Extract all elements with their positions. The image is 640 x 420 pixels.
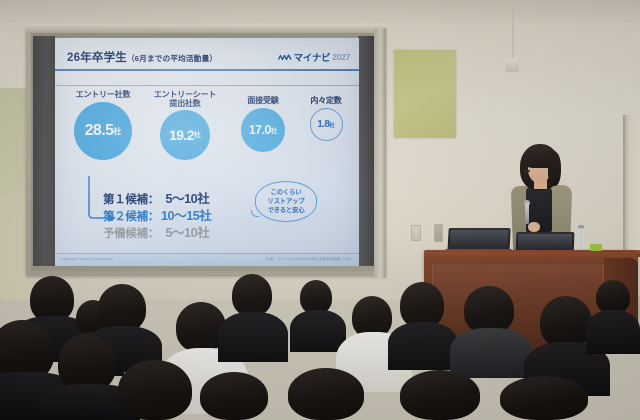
list-item (500, 376, 588, 420)
slide-title: 26年卒学生（6月までの平均活動量） (67, 49, 217, 65)
list-item (540, 296, 592, 348)
secondary-divider (55, 85, 359, 86)
slide-title-sub: （6月までの平均活動量） (127, 54, 217, 63)
metric-value: 1.8 (317, 119, 329, 130)
balloon-line-2: リストアップ (267, 197, 304, 206)
photo-scene: 26年卒学生（6月までの平均活動量） マイナビ 2027 エントリー社数 28.… (0, 0, 640, 420)
screen-top-rail (26, 24, 386, 32)
ceiling-rod (512, 8, 514, 60)
list-item (218, 312, 288, 362)
list-item (232, 274, 272, 316)
candidate-row-3: 予備候補： 5〜10社 (103, 222, 303, 239)
metric-unit: 社 (271, 125, 278, 135)
metric-informal-offers: 内々定数 1.8社 (295, 96, 357, 141)
wall-switch[interactable] (434, 224, 443, 242)
list-item (400, 370, 480, 420)
laptop-screen (450, 230, 509, 248)
list-item (118, 360, 192, 420)
list-item (290, 310, 346, 352)
metric-caption: 内々定数 (295, 96, 357, 105)
metric-unit: 社 (329, 121, 335, 129)
mynavi-logo: マイナビ 2027 (278, 50, 350, 64)
headset-mic-icon (524, 170, 530, 172)
candidate-label: 予備候補： (103, 225, 159, 241)
metric-caption: エントリーシート 提出社数 (143, 90, 227, 109)
metric-es-submitted: エントリーシート 提出社数 19.2社 (143, 90, 227, 160)
metric-caption: 面接受験 (227, 96, 299, 105)
list-item (586, 310, 640, 354)
hair-side (548, 152, 561, 186)
list-item (200, 372, 268, 420)
slide-title-main: 26年卒学生 (67, 52, 127, 64)
audience (0, 272, 640, 420)
metric-bubble: 28.5社 (74, 102, 132, 160)
metric-value: 17.0 (249, 123, 271, 137)
candidate-label: 第１候補： (103, 191, 159, 207)
projection-dark-band-left (33, 36, 55, 266)
metric-unit: 社 (113, 126, 121, 137)
laptop-screen (518, 234, 573, 250)
candidate-label: 第２候補： (103, 208, 159, 224)
slide-footer: Copyright Mynavi Corporation 出典：マイナビ2026… (55, 253, 359, 266)
metric-entry-count: エントリー社数 28.5社 (61, 90, 145, 160)
list-item (98, 284, 146, 332)
microphone-icon (525, 204, 529, 224)
list-item (450, 328, 532, 378)
speech-balloon: このくらい リストアップ できると安心 (255, 181, 317, 222)
screen-right-post (374, 28, 386, 278)
logo-year: 2027 (332, 52, 350, 62)
metric-bubble-outline: 1.8社 (310, 108, 343, 141)
wall-outlet[interactable] (411, 225, 421, 241)
title-divider (55, 69, 359, 71)
projection-dark-band-right (358, 36, 374, 266)
metric-bubble: 19.2社 (160, 110, 210, 160)
logo-text: マイナビ (294, 50, 331, 64)
ceiling (0, 0, 640, 22)
hand (528, 222, 540, 232)
list-item (288, 368, 364, 420)
list-item (388, 322, 458, 370)
projected-slide: 26年卒学生（6月までの平均活動量） マイナビ 2027 エントリー社数 28.… (55, 38, 359, 266)
metric-bubble: 17.0社 (241, 108, 285, 152)
status-indicator (590, 244, 602, 251)
footer-source: 出典：マイナビ2026年卒大学生活動実態調査（6月） (266, 257, 354, 262)
footer-copyright: Copyright Mynavi Corporation (60, 257, 113, 261)
metric-interviews: 面接受験 17.0社 (227, 96, 299, 152)
candidate-value: 5〜10社 (165, 222, 209, 241)
balloon-line-3: できると安心 (267, 206, 304, 215)
list-item (464, 286, 514, 334)
list-item (300, 280, 332, 314)
olive-wall-panel (394, 50, 456, 138)
balloon-line-1: このくらい (271, 188, 302, 197)
speaker-icon (505, 58, 519, 72)
zigzag-mark-icon (278, 53, 292, 62)
metric-row: エントリー社数 28.5社 エントリーシート 提出社数 19.2社 面接受験 1… (55, 90, 359, 182)
metric-value: 28.5 (85, 122, 114, 140)
list-item (596, 280, 630, 314)
metric-unit: 社 (194, 130, 201, 140)
metric-caption: エントリー社数 (61, 90, 145, 99)
metric-value: 19.2 (169, 127, 194, 143)
